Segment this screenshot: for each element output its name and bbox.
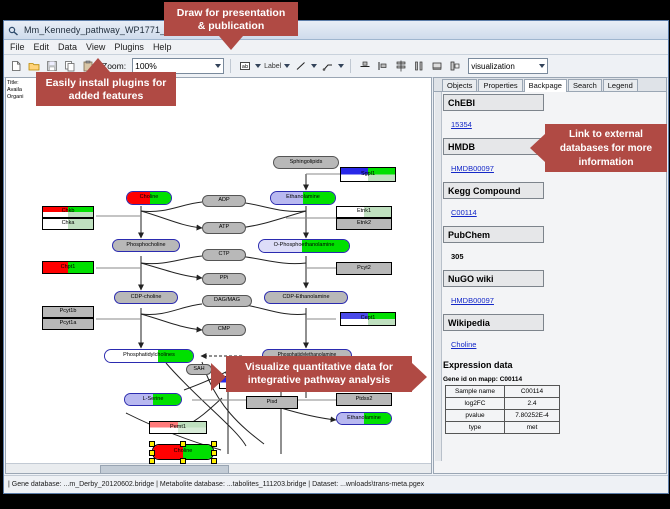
table-row: type met [446, 422, 560, 434]
canvas-hscrollbar-thumb[interactable] [100, 465, 230, 474]
tab-properties[interactable]: Properties [478, 79, 522, 91]
text-icon[interactable]: ab [237, 59, 252, 74]
callout-viz: Visualize quantitative data for integrat… [226, 356, 412, 392]
node-etnk2[interactable]: Etnk2 [336, 218, 392, 230]
pathway-canvas[interactable]: Title: Availa Organi [5, 77, 432, 474]
visualization-combo[interactable]: visualization [468, 58, 548, 74]
node-etnk1[interactable]: Etnk1 [336, 206, 392, 218]
db-header-chebi: ChEBI [443, 94, 544, 111]
node-sah[interactable]: SAH [186, 364, 212, 375]
node-label: Phosphatidylcholines [123, 353, 175, 359]
node-cdp-ethanolamine[interactable]: CDP-Ethanolamine [264, 291, 348, 304]
node-dag-mag[interactable]: DAG/MAG [202, 295, 252, 307]
callout-plugins-arrow [86, 58, 110, 72]
db-link-wikipedia[interactable]: Choline [451, 340, 476, 349]
callout-viz-text: Visualize quantitative data for integrat… [245, 361, 393, 386]
expression-table: Sample name C00114 log2FC 2.4 pvalue 7.8… [445, 385, 560, 434]
node-label: Pcyt1b [60, 309, 77, 315]
node-label: Choline [174, 449, 193, 455]
chevron-down-icon[interactable] [255, 64, 261, 68]
menu-item-edit[interactable]: Edit [34, 42, 50, 52]
selection-handle[interactable] [149, 450, 155, 456]
menu-item-help[interactable]: Help [153, 42, 172, 52]
node-pcyt2[interactable]: Pcyt2 [336, 262, 392, 275]
toolbar-separator [230, 59, 231, 73]
node-label: ATP [219, 225, 229, 231]
svg-text:ab: ab [241, 64, 247, 70]
order-icon[interactable] [447, 59, 462, 74]
node-ctp[interactable]: CTP [202, 249, 246, 261]
node-label: Pcyt1a [60, 321, 77, 327]
table-row: log2FC 2.4 [446, 398, 560, 410]
node-atp[interactable]: ATP [202, 222, 246, 234]
node-label: Pemt1 [170, 425, 186, 431]
menu-item-file[interactable]: File [10, 42, 25, 52]
node-l-serine-left[interactable]: L-Serine [124, 393, 182, 406]
db-header-kegg-compound: Kegg Compound [443, 182, 544, 199]
gene-id-on-mapp: Gene id on mapp: C00114 [443, 376, 658, 383]
distribute-h-icon[interactable] [411, 59, 426, 74]
node-ethanolamine[interactable]: Ethanolamine [270, 191, 336, 205]
node-label: SAH [193, 367, 204, 373]
chevron-down-icon [215, 64, 221, 68]
table-row: Sample name C00114 [446, 386, 560, 398]
expr-key-type: type [446, 422, 505, 434]
side-panel-tabs: Objects Properties Backpage Search Legen… [434, 78, 666, 92]
node-label: Ethanolamine [286, 195, 320, 201]
node-cept1[interactable]: Cept1 [340, 312, 396, 326]
tab-backpage[interactable]: Backpage [524, 79, 567, 92]
chevron-down-icon[interactable] [284, 64, 290, 68]
callout-draw-arrow [219, 36, 243, 50]
expr-value-log2fc: 2.4 [505, 398, 560, 410]
selection-handle[interactable] [211, 441, 217, 447]
menu-item-data[interactable]: Data [58, 42, 77, 52]
callout-links: Link to external databases for more info… [545, 124, 667, 172]
app-icon [8, 25, 19, 36]
tab-legend[interactable]: Legend [603, 79, 638, 91]
expression-data-heading: Expression data [443, 360, 658, 370]
expr-key-pvalue: pvalue [446, 410, 505, 422]
callout-links-text: Link to external databases for more info… [560, 129, 652, 168]
node-label: Choline [140, 195, 159, 201]
node-label: Chkb [62, 209, 75, 215]
node-label: ADP [218, 198, 229, 204]
visualization-value: visualization [471, 62, 515, 71]
node-phosphatidylcholines[interactable]: Phosphatidylcholines [104, 349, 194, 363]
node-label: Ethanolamine [347, 416, 381, 422]
node-pemt1[interactable]: Pemt1 [149, 421, 207, 434]
node-o-phosphoethanolamine[interactable]: O-Phosphoethanolamine [258, 239, 350, 253]
db-header-pubchem: PubChem [443, 226, 544, 243]
node-label: Pcyt2 [357, 266, 371, 272]
node-pcyt1a[interactable]: Pcyt1a [42, 318, 94, 330]
label-button[interactable]: Label [264, 63, 281, 70]
status-bar: | Gene database: ...m_Derby_20120602.bri… [4, 475, 668, 493]
expr-value-pvalue: 7.80252E-4 [505, 410, 560, 422]
callout-draw: Draw for presentation & publication [164, 2, 298, 36]
node-chpt1[interactable]: Chpt1 [42, 261, 94, 274]
group-icon[interactable] [429, 59, 444, 74]
node-ptdss2[interactable]: Ptdss2 [336, 393, 392, 406]
callout-plugins-text: Easily install plugins for added feature… [46, 77, 167, 102]
node-label: Sphingolipids [290, 160, 323, 166]
node-label: CDP-Ethanolamine [282, 295, 329, 301]
callout-links-arrow [530, 134, 545, 162]
db-link-hmdb[interactable]: HMDB00097 [451, 164, 494, 173]
menu-bar: File Edit Data View Plugins Help [4, 40, 668, 55]
status-bar-text: | Gene database: ...m_Derby_20120602.bri… [8, 481, 424, 488]
node-label: Chpt1 [61, 265, 76, 271]
selection-handle[interactable] [211, 458, 217, 464]
callout-viz-arrow [211, 363, 226, 391]
db-link-kegg-compound[interactable]: C00114 [451, 208, 477, 217]
align-icon[interactable] [357, 59, 372, 74]
node-label: Etnk1 [357, 209, 371, 215]
toolbar-separator [350, 59, 351, 73]
menu-item-plugins[interactable]: Plugins [114, 42, 144, 52]
tab-search[interactable]: Search [568, 79, 602, 91]
new-file-icon[interactable] [8, 59, 23, 74]
selection-handle[interactable] [180, 441, 186, 447]
selection-handle[interactable] [149, 441, 155, 447]
db-header-wikipedia: Wikipedia [443, 314, 544, 331]
node-adp[interactable]: ADP [202, 195, 246, 207]
db-header-nugo-wiki: NuGO wiki [443, 270, 544, 287]
callout-draw-text: Draw for presentation & publication [177, 7, 286, 32]
node-label: CMP [218, 327, 230, 333]
node-label: PPi [220, 276, 229, 282]
db-header-hmdb: HMDB [443, 138, 544, 155]
node-label: Sgpl1 [361, 172, 375, 178]
node-sphingolipids[interactable]: Sphingolipids [273, 156, 339, 169]
node-label: L-Serine [143, 397, 164, 403]
node-label: CTP [219, 252, 230, 258]
db-link-nugo-wiki[interactable]: HMDB00097 [451, 296, 494, 305]
node-label: Pisd [267, 400, 278, 406]
node-choline[interactable]: Choline [126, 191, 172, 205]
node-ethanolamine-2[interactable]: Ethanolamine [336, 412, 392, 425]
node-sgpl1[interactable]: Sgpl1 [340, 167, 396, 182]
node-label: Phosphocholine [126, 243, 165, 249]
canvas-hscrollbar[interactable] [6, 463, 431, 473]
line-icon[interactable] [293, 59, 308, 74]
chevron-down-icon [539, 64, 545, 68]
node-label: Chka [62, 221, 75, 227]
node-phosphocholine[interactable]: Phosphocholine [112, 239, 180, 252]
expr-value-sample-name: C00114 [505, 386, 560, 398]
node-cdp-choline[interactable]: CDP-choline [114, 291, 178, 304]
align-left-icon[interactable] [375, 59, 390, 74]
node-cmp[interactable]: CMP [202, 324, 246, 336]
table-row: pvalue 7.80252E-4 [446, 410, 560, 422]
node-pcyt1b[interactable]: Pcyt1b [42, 306, 94, 318]
node-label: CDP-choline [131, 295, 162, 301]
expr-key-log2fc: log2FC [446, 398, 505, 410]
selection-handle[interactable] [149, 458, 155, 464]
db-link-chebi[interactable]: 15354 [451, 120, 472, 129]
expr-key-sample-name: Sample name [446, 386, 505, 398]
zoom-value: 100% [135, 61, 157, 71]
node-label: Etnk2 [357, 221, 371, 227]
node-label: Ptdss2 [356, 397, 373, 403]
title-bar: Mm_Kennedy_pathway_WP1771_45176.gpml [4, 21, 668, 40]
expr-value-type: met [505, 422, 560, 434]
connector-icon[interactable] [320, 59, 335, 74]
node-chkb[interactable]: Chkb [42, 206, 94, 218]
screenshot-root: Mm_Kennedy_pathway_WP1771_45176.gpml Fil… [0, 0, 670, 509]
selection-handle[interactable] [211, 450, 217, 456]
node-ppi[interactable]: PPi [202, 273, 246, 285]
node-label: DAG/MAG [214, 298, 240, 304]
callout-plugins: Easily install plugins for added feature… [36, 72, 176, 106]
chevron-down-icon[interactable] [338, 64, 344, 68]
tab-objects[interactable]: Objects [442, 79, 477, 91]
side-panel-vscrollbar[interactable] [435, 92, 442, 461]
node-chka[interactable]: Chka [42, 218, 94, 230]
node-label: O-Phosphoethanolamine [274, 243, 335, 249]
db-value-pubchem: 305 [451, 252, 464, 261]
chevron-down-icon[interactable] [311, 64, 317, 68]
node-label: Cept1 [361, 316, 376, 322]
node-pisd[interactable]: Pisd [246, 396, 298, 409]
menu-item-view[interactable]: View [86, 42, 105, 52]
distribute-icon[interactable] [393, 59, 408, 74]
selection-handle[interactable] [180, 458, 186, 464]
callout-viz-arrow-right [412, 363, 427, 391]
